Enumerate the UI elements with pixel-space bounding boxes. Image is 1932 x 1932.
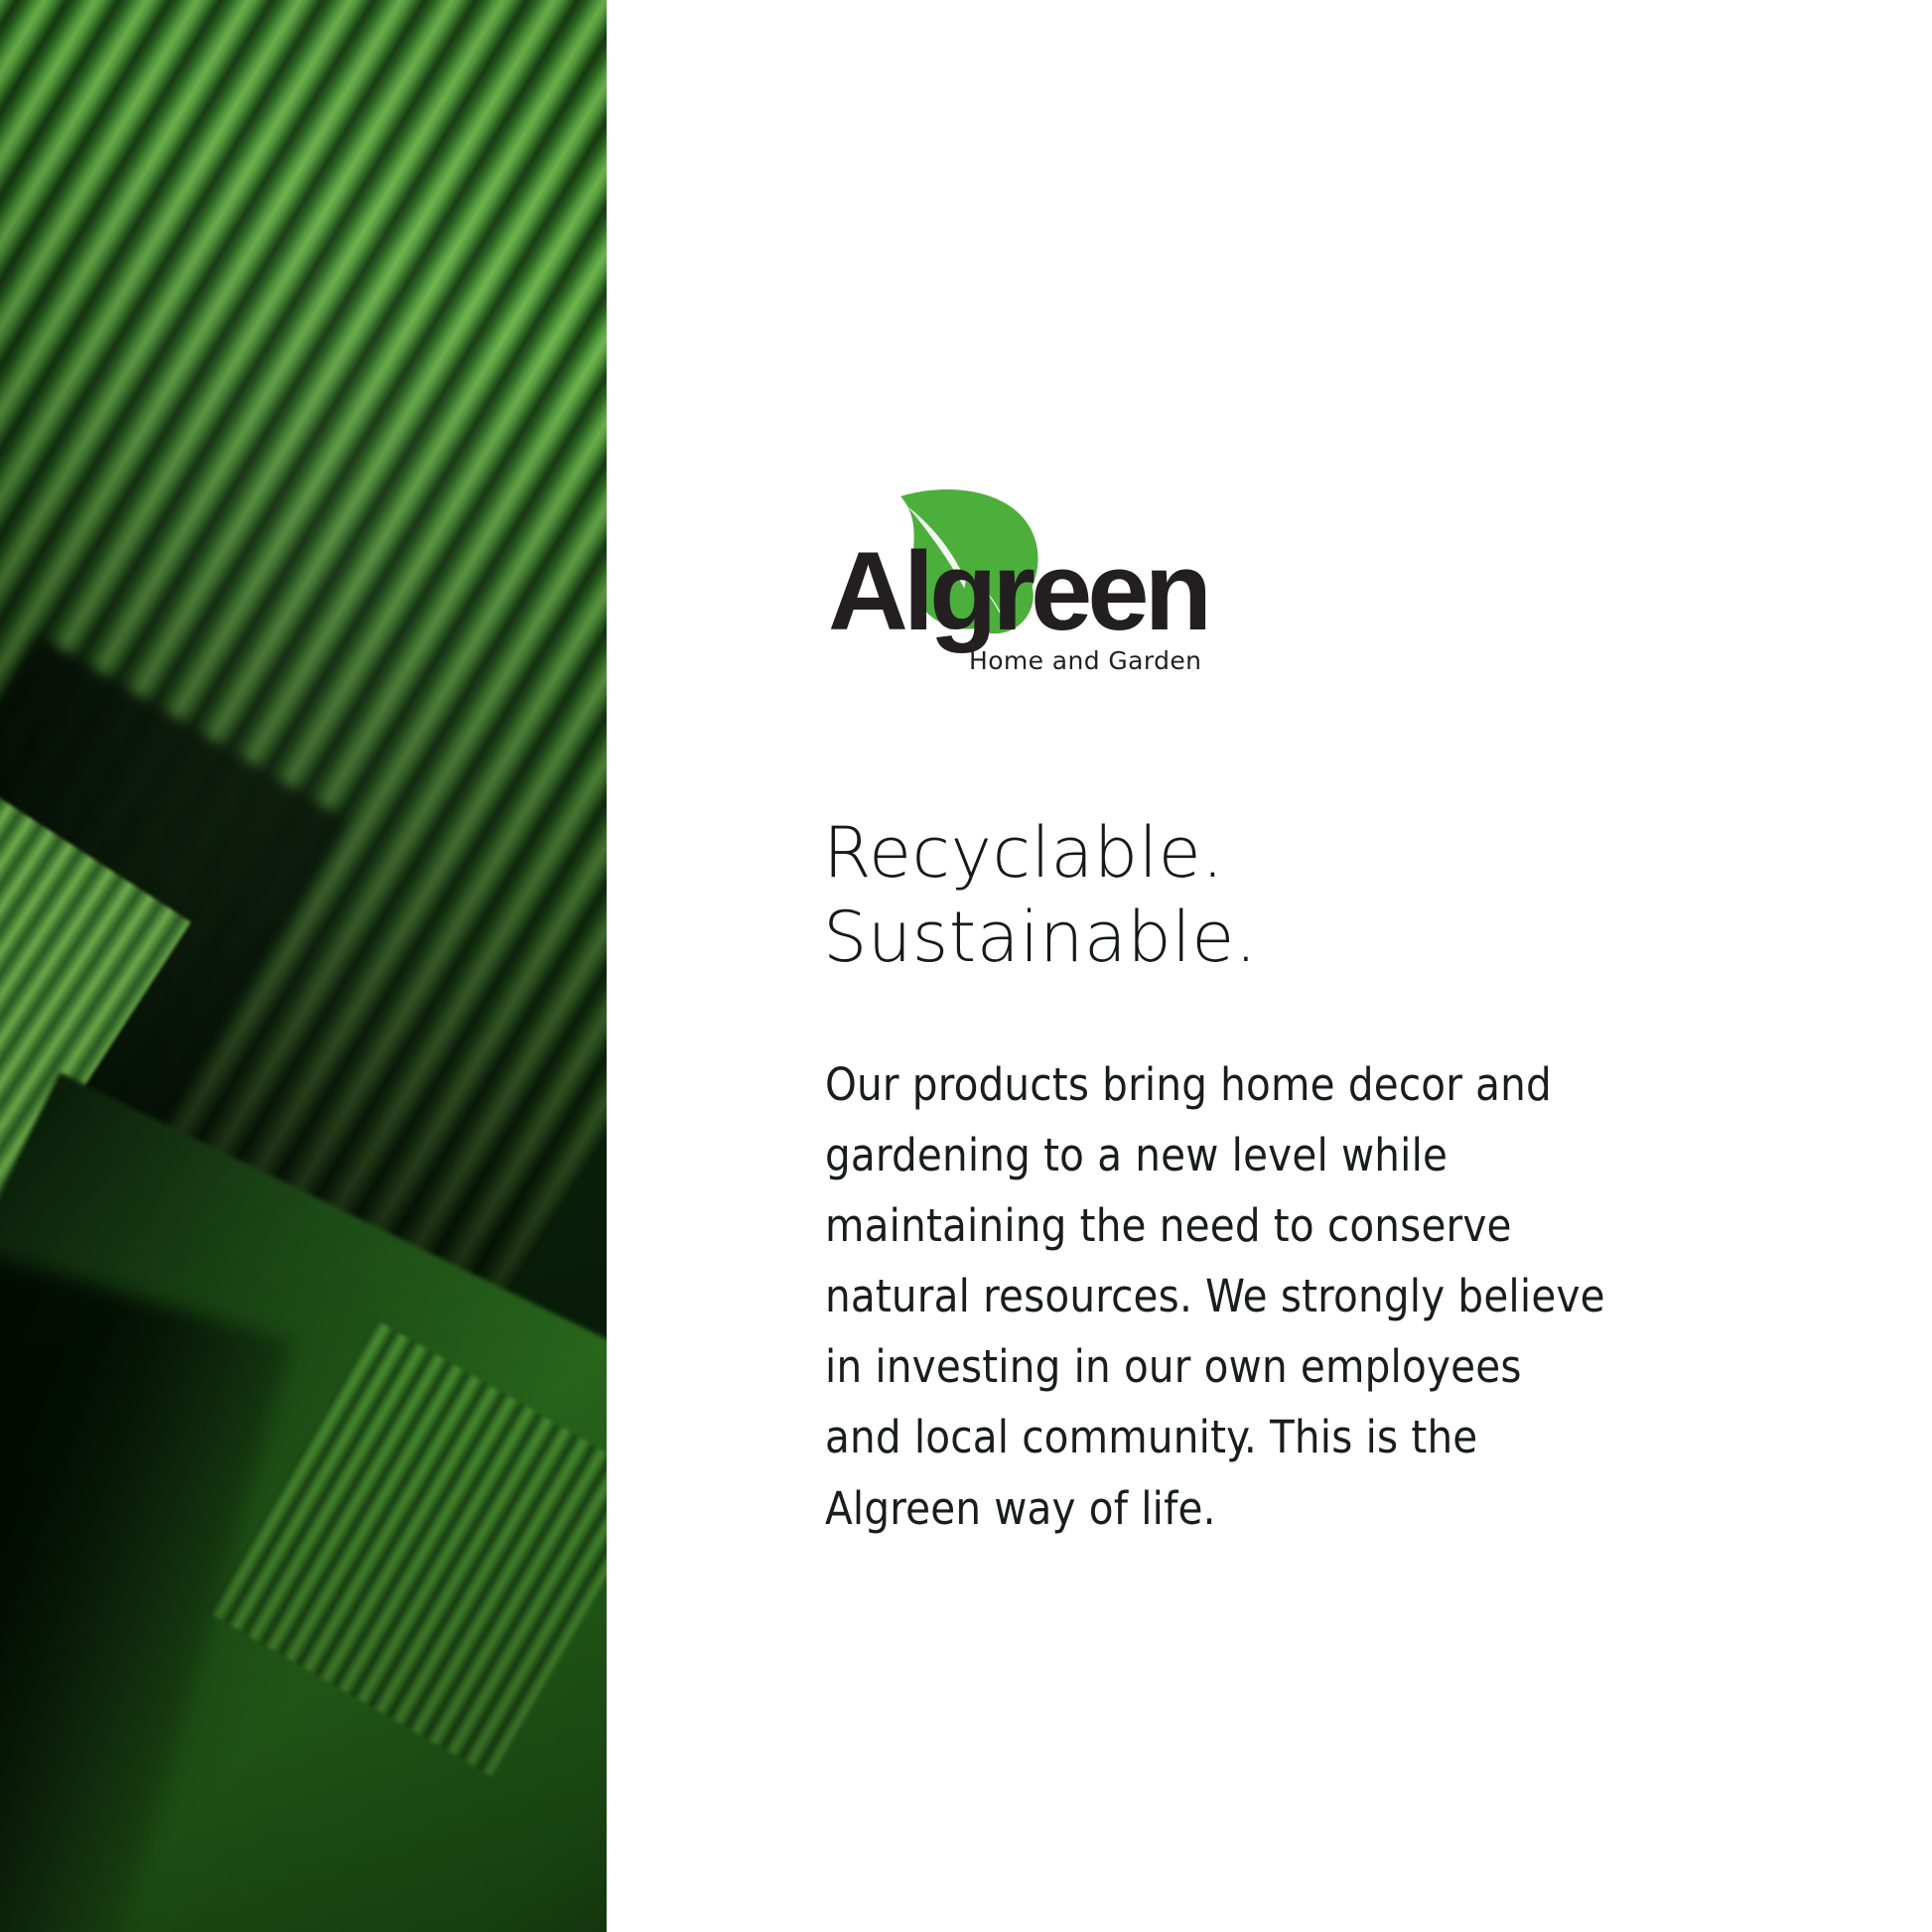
leaf-photo-panel	[0, 0, 607, 1932]
content-panel: Algreen Home and Garden Recyclable. Sust…	[607, 0, 1932, 1932]
marketing-slide: Algreen Home and Garden Recyclable. Sust…	[0, 0, 1932, 1932]
algreen-wordmark-text: Algreen	[828, 529, 1207, 653]
algreen-logo: Algreen Home and Garden	[818, 479, 1207, 682]
algreen-tagline-text: Home and Garden	[969, 646, 1201, 675]
page-title: Recyclable. Sustainable.	[823, 811, 1258, 981]
body-paragraph: Our products bring home decor and garden…	[825, 1049, 1609, 1544]
svg-text:Home and Garden: Home and Garden	[969, 646, 1201, 675]
svg-text:Algreen: Algreen	[828, 529, 1207, 653]
